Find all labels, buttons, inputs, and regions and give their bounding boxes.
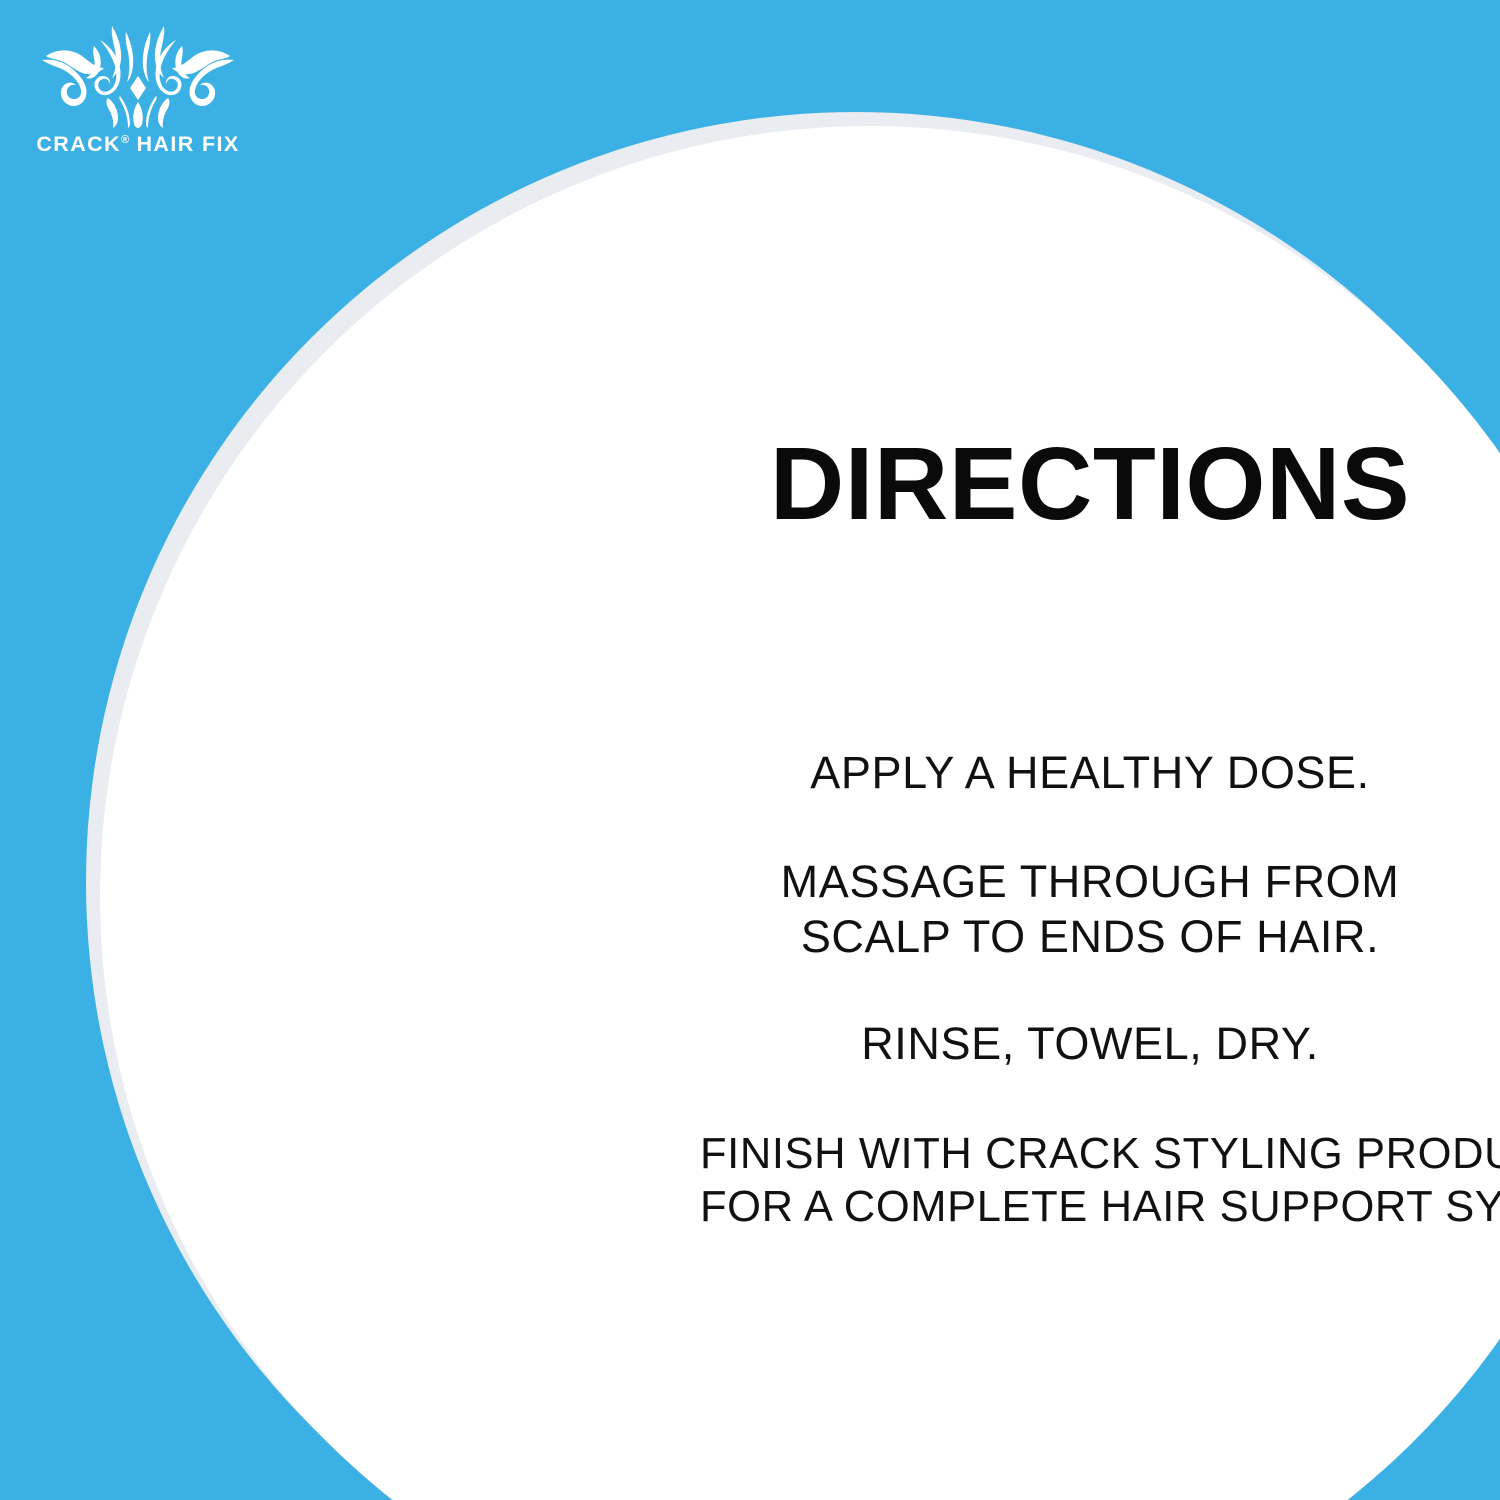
directions-content: DIRECTIONS APPLY A HEALTHY DOSE. MASSAGE… <box>700 430 1480 1234</box>
registered-trademark-symbol: ® <box>121 134 129 146</box>
product-directions-panel: CRACK® HAIR FIX DIRECTIONS APPLY A HEALT… <box>0 0 1500 1500</box>
brand-wordmark: CRACK® HAIR FIX <box>28 134 248 156</box>
direction-step: MASSAGE THROUGH FROM SCALP TO ENDS OF HA… <box>700 855 1480 965</box>
direction-step: APPLY A HEALTHY DOSE. <box>700 746 1480 801</box>
direction-step: RINSE, TOWEL, DRY. <box>700 1017 1480 1072</box>
wordmark-crack: CRACK <box>36 132 121 156</box>
page-title: DIRECTIONS <box>700 430 1480 538</box>
direction-step-line: MASSAGE THROUGH FROM <box>700 855 1480 910</box>
direction-step: FINISH WITH CRACK STYLING PRODUCTS. FOR … <box>700 1128 1480 1234</box>
direction-step-line: APPLY A HEALTHY DOSE. <box>700 746 1480 801</box>
direction-step-line: RINSE, TOWEL, DRY. <box>700 1017 1480 1072</box>
direction-step-line: SCALP TO ENDS OF HAIR. <box>700 910 1480 965</box>
brand-logo: CRACK® HAIR FIX <box>28 24 248 156</box>
direction-step-line: FOR A COMPLETE HAIR SUPPORT SYSTEM. <box>700 1181 1480 1234</box>
ornamental-filigree-icon <box>38 24 238 128</box>
direction-step-line: FINISH WITH CRACK STYLING PRODUCTS. <box>700 1128 1480 1181</box>
directions-step-list: APPLY A HEALTHY DOSE. MASSAGE THROUGH FR… <box>700 746 1480 1234</box>
wordmark-hair-fix: HAIR FIX <box>129 132 240 156</box>
